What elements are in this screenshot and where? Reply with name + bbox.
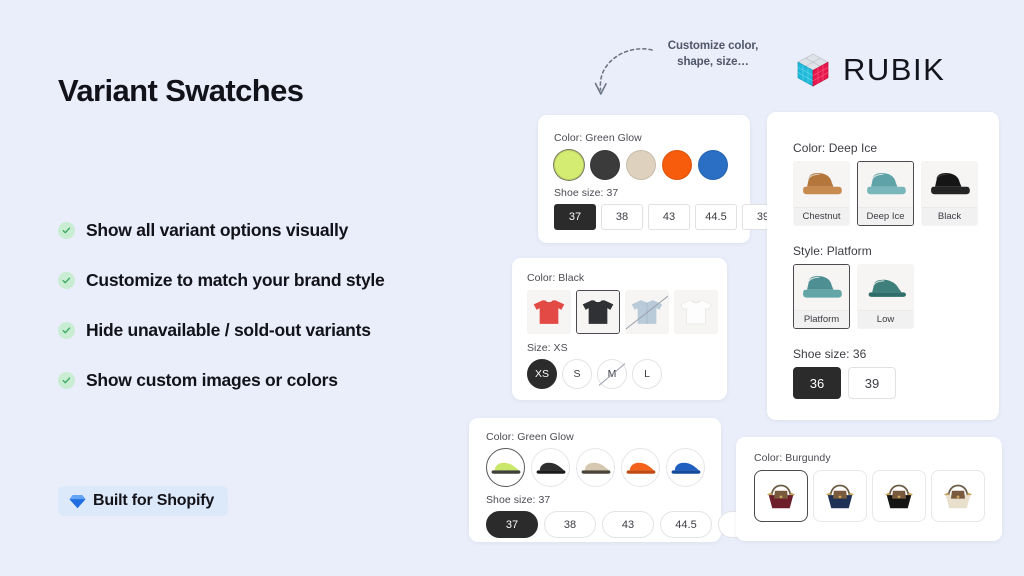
color-swatch-row xyxy=(554,150,728,180)
image-swatch-deep-ice[interactable]: Deep Ice xyxy=(857,161,914,226)
annotation-callout: Customize color, shape, size… xyxy=(648,38,778,71)
image-swatch-row xyxy=(486,448,705,487)
image-swatch-cream[interactable] xyxy=(931,470,985,522)
deep-ice-boot-card: Color: Deep Ice Chestnut Deep Ice xyxy=(767,112,999,420)
black-tshirt-card: Color: Black xyxy=(512,258,727,400)
color-option-label: Color: Burgundy xyxy=(754,452,831,464)
size-option-label: Shoe size: 37 xyxy=(486,494,550,506)
color-option-label: Color: Green Glow xyxy=(554,132,642,144)
size-button-36[interactable]: 36 xyxy=(793,367,841,399)
image-swatch-orange[interactable] xyxy=(621,448,660,487)
color-swatch-blue[interactable] xyxy=(698,150,728,180)
rubik-cube-icon xyxy=(795,52,831,88)
green-glow-slides-card: Color: Green Glow xyxy=(469,418,721,542)
image-swatch-black[interactable] xyxy=(531,448,570,487)
image-swatch-caption: Platform xyxy=(794,310,849,328)
list-item: Show custom images or colors xyxy=(58,366,478,395)
image-swatch-light-blue-sold-out[interactable] xyxy=(625,290,669,334)
color-image-swatch-row: Chestnut Deep Ice Black xyxy=(793,161,978,226)
image-swatch-black[interactable] xyxy=(576,290,620,334)
image-swatch-caption: Deep Ice xyxy=(858,207,913,225)
size-option-label: Size: XS xyxy=(527,342,568,354)
annotation-line-2: shape, size… xyxy=(648,54,778,70)
image-swatch-low[interactable]: Low xyxy=(857,264,914,329)
image-swatch-caption: Black xyxy=(922,207,977,225)
list-item-label: Show custom images or colors xyxy=(86,370,338,391)
image-swatch-beige[interactable] xyxy=(576,448,615,487)
size-option-label: Shoe size: 36 xyxy=(793,347,866,361)
size-button-m-sold-out[interactable]: M xyxy=(597,359,627,389)
size-option-label: Shoe size: 37 xyxy=(554,187,618,199)
image-swatch-navy[interactable] xyxy=(813,470,867,522)
image-swatch-row xyxy=(754,470,985,522)
feature-list: Show all variant options visually Custom… xyxy=(58,216,478,416)
image-swatch-red[interactable] xyxy=(527,290,571,334)
image-swatch-caption: Chestnut xyxy=(794,207,849,225)
size-button-38[interactable]: 38 xyxy=(544,511,596,538)
image-swatch-row xyxy=(527,290,718,334)
color-swatch-beige[interactable] xyxy=(626,150,656,180)
color-option-label: Color: Green Glow xyxy=(486,431,574,443)
list-item-label: Hide unavailable / sold-out variants xyxy=(86,320,371,341)
style-option-label: Style: Platform xyxy=(793,244,872,258)
annotation-line-1: Customize color, xyxy=(648,38,778,54)
diamond-icon xyxy=(69,494,86,509)
color-option-label: Color: Deep Ice xyxy=(793,141,877,155)
size-button-row: 36 39 xyxy=(793,367,896,399)
size-button-row: XS S M L xyxy=(527,359,662,389)
green-glow-color-card: Color: Green Glow Shoe size: 37 37 38 43… xyxy=(538,115,750,243)
brand-logo: RUBIK xyxy=(795,52,945,88)
image-swatch-chestnut[interactable]: Chestnut xyxy=(793,161,850,226)
size-button-l[interactable]: L xyxy=(632,359,662,389)
size-button-xs[interactable]: XS xyxy=(527,359,557,389)
check-circle-icon xyxy=(58,322,75,339)
color-option-label: Color: Black xyxy=(527,272,584,284)
size-button-row: 37 38 43 44.5 39 xyxy=(486,511,770,538)
size-button-37[interactable]: 37 xyxy=(486,511,538,538)
size-button-37[interactable]: 37 xyxy=(554,204,596,230)
check-circle-icon xyxy=(58,272,75,289)
curved-dashed-arrow-icon xyxy=(592,46,654,102)
size-button-43[interactable]: 43 xyxy=(602,511,654,538)
color-swatch-orange[interactable] xyxy=(662,150,692,180)
check-circle-icon xyxy=(58,372,75,389)
built-for-shopify-badge: Built for Shopify xyxy=(58,486,228,516)
page-title: Variant Swatches xyxy=(58,73,303,109)
size-button-44-5[interactable]: 44.5 xyxy=(660,511,712,538)
image-swatch-burgundy[interactable] xyxy=(754,470,808,522)
color-swatch-black[interactable] xyxy=(590,150,620,180)
size-button-43[interactable]: 43 xyxy=(648,204,690,230)
built-for-shopify-label: Built for Shopify xyxy=(93,492,214,510)
color-swatch-green-glow[interactable] xyxy=(554,150,584,180)
image-swatch-blue[interactable] xyxy=(666,448,705,487)
size-button-44-5[interactable]: 44.5 xyxy=(695,204,737,230)
image-swatch-green-glow[interactable] xyxy=(486,448,525,487)
size-button-39[interactable]: 39 xyxy=(848,367,896,399)
size-button-38[interactable]: 38 xyxy=(601,204,643,230)
image-swatch-white[interactable] xyxy=(674,290,718,334)
image-swatch-platform[interactable]: Platform xyxy=(793,264,850,329)
brand-wordmark: RUBIK xyxy=(843,52,945,88)
style-image-swatch-row: Platform Low xyxy=(793,264,914,329)
list-item-label: Customize to match your brand style xyxy=(86,270,385,291)
burgundy-bag-card: Color: Burgundy xyxy=(736,437,1002,541)
list-item: Show all variant options visually xyxy=(58,216,478,245)
check-circle-icon xyxy=(58,222,75,239)
size-button-s[interactable]: S xyxy=(562,359,592,389)
image-swatch-black[interactable] xyxy=(872,470,926,522)
image-swatch-caption: Low xyxy=(858,310,913,328)
list-item: Customize to match your brand style xyxy=(58,266,478,295)
size-button-row: 37 38 43 44.5 39 xyxy=(554,204,784,230)
list-item: Hide unavailable / sold-out variants xyxy=(58,316,478,345)
image-swatch-black[interactable]: Black xyxy=(921,161,978,226)
list-item-label: Show all variant options visually xyxy=(86,220,348,241)
